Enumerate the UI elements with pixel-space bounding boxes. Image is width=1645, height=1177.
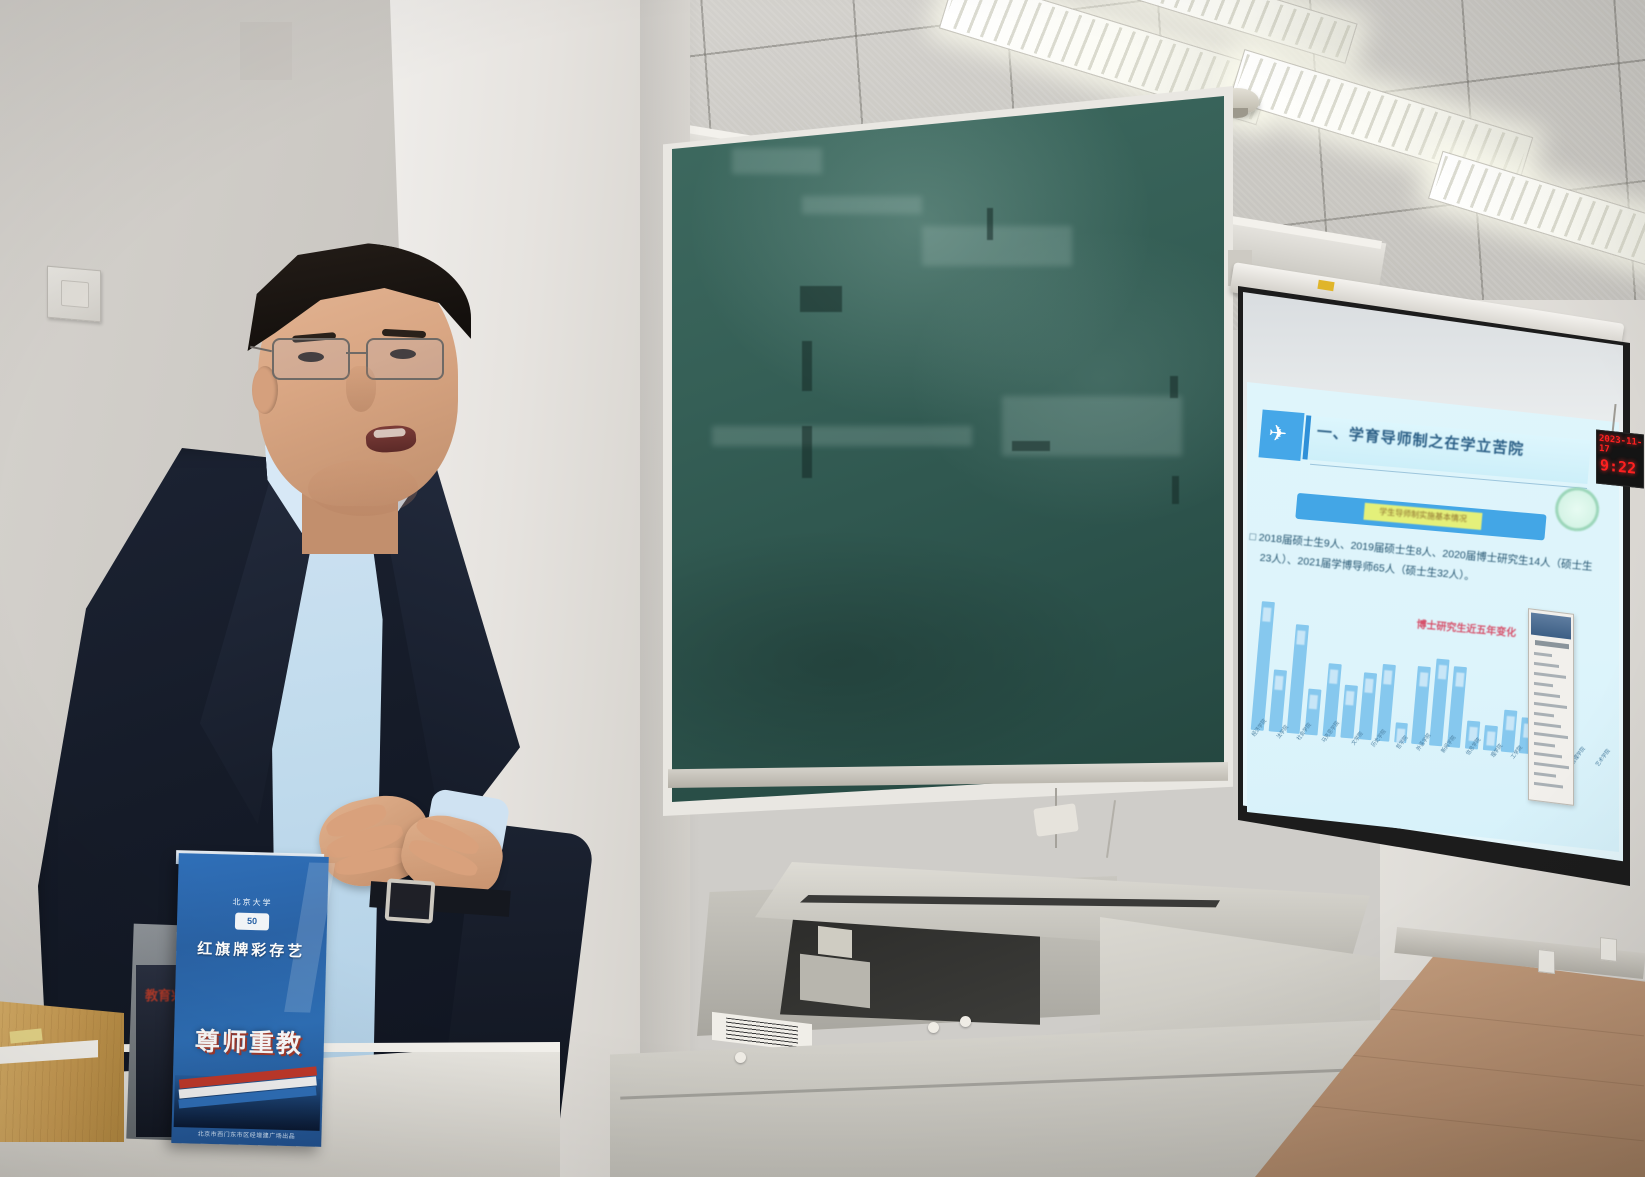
notice-header bbox=[1531, 613, 1571, 640]
podium-knob[interactable] bbox=[735, 1052, 746, 1063]
power-outlet[interactable] bbox=[1538, 949, 1555, 974]
notice-text-line bbox=[1534, 692, 1560, 698]
hanging-cable bbox=[1106, 800, 1116, 858]
notice-text-line bbox=[1534, 762, 1569, 769]
podium-internal-module bbox=[800, 954, 870, 1009]
wall-panel bbox=[240, 22, 292, 80]
eyeglass-bridge bbox=[346, 352, 368, 354]
notice-text-line bbox=[1534, 652, 1552, 657]
leaflet-headline: 尊师重教 bbox=[173, 1021, 324, 1061]
chalkboard bbox=[672, 96, 1224, 802]
eyeglass-lens bbox=[366, 338, 444, 380]
led-clock-date: 2023-11-17 bbox=[1599, 434, 1643, 459]
notice-text-line bbox=[1534, 782, 1563, 789]
leaflet-title: 红旗牌彩存艺 bbox=[176, 937, 326, 962]
power-outlet[interactable] bbox=[1600, 937, 1617, 962]
chart-bar bbox=[1358, 672, 1377, 740]
notice-title-line bbox=[1535, 640, 1569, 649]
chin bbox=[308, 460, 418, 516]
notice-text-line bbox=[1534, 772, 1556, 778]
chart-x-tick: 艺术学院 bbox=[1594, 748, 1619, 782]
eyeglass-lens bbox=[272, 338, 350, 380]
notice-text-line bbox=[1534, 732, 1568, 739]
belt-buckle bbox=[385, 878, 436, 923]
podium-knob[interactable] bbox=[928, 1022, 939, 1033]
podium-knob[interactable] bbox=[960, 1016, 971, 1027]
notice-text-line bbox=[1534, 682, 1553, 687]
notice-text-line bbox=[1534, 712, 1554, 717]
wall-notice-board bbox=[1528, 608, 1574, 806]
classroom-photo-scene: ✈ 一、学育导师制之在学立苦院 学生导师制实施基本情况 □ 2018届硕士生9人… bbox=[0, 0, 1645, 1177]
notice-text-line bbox=[1534, 662, 1559, 668]
led-clock-display: 2023-11-17 9:22 bbox=[1596, 429, 1644, 488]
dove-icon: ✈ bbox=[1267, 420, 1295, 448]
notice-text-line bbox=[1534, 672, 1566, 679]
podium-internal-module bbox=[818, 926, 852, 958]
wood-grain bbox=[0, 992, 124, 1142]
seal-emblem-icon bbox=[1553, 485, 1601, 533]
wooden-chalk-box bbox=[0, 992, 124, 1142]
notice-text-line bbox=[1534, 702, 1567, 709]
leaflet-badge: 50 bbox=[235, 913, 269, 931]
notice-text-line bbox=[1534, 742, 1555, 748]
podium-front-panel bbox=[610, 1020, 1380, 1177]
hanging-connector bbox=[1033, 803, 1078, 837]
nose bbox=[346, 366, 376, 412]
led-clock-time: 9:22 bbox=[1600, 456, 1643, 479]
leaflet-display-box: 北京大学 50 红旗牌彩存艺 尊师重教 北京市西门东市区经增建广场出品 bbox=[171, 853, 329, 1147]
notice-text-line bbox=[1534, 722, 1561, 728]
chart-bar bbox=[1429, 659, 1449, 747]
notice-text-line bbox=[1534, 752, 1562, 758]
